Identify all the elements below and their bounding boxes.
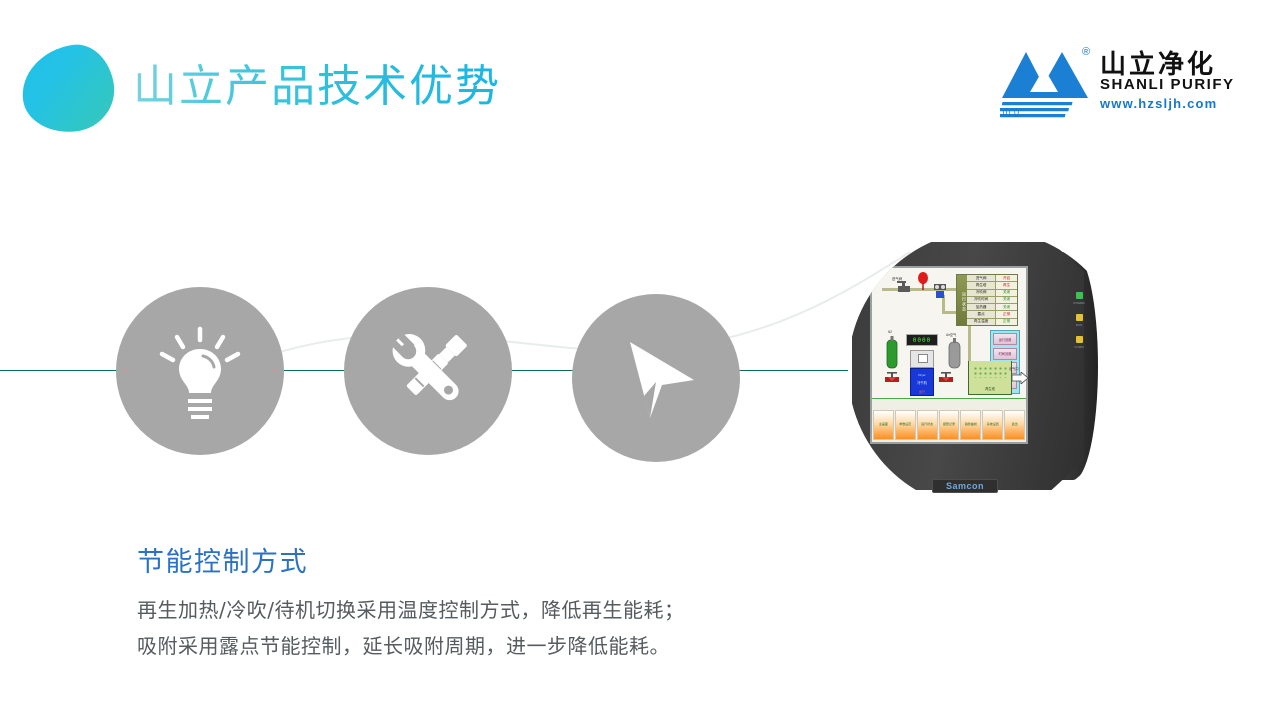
status-table-rows: 进气阀开启再生塔再生冷吹阀关闭冷吹时间关闭加热器关闭露点正常再生温度正常 <box>967 275 1017 325</box>
timeline-node-tools[interactable] <box>344 287 512 455</box>
air-receiver-icon <box>948 338 961 370</box>
slide-root: 山立产品技术优势 ® 山立 山立净化 SHANLI PURIFY www.hzs… <box>0 0 1280 720</box>
status-row-key: 进气阀 <box>967 275 996 281</box>
outlet-arrow-icon <box>1012 372 1028 384</box>
body-line-1: 再生加热/冷吹/待机切换采用温度控制方式，降低再生能耗； <box>137 592 897 628</box>
valve-left-icon <box>884 372 900 386</box>
section-body: 再生加热/冷吹/待机切换采用温度控制方式，降低再生能耗； 吸附采用露点节能控制，… <box>137 592 897 664</box>
blob-decoration-icon <box>16 40 119 138</box>
hmi-led-icon <box>1076 314 1083 321</box>
hmi-bottom-button[interactable]: 退出 <box>1004 410 1025 440</box>
body-line-2: 吸附采用露点节能控制，延长吸附周期，进一步降低能耗。 <box>137 628 897 664</box>
hmi-bottom-button-bar: 主画面参数设定运行状态报警记录趋势曲线系统设置退出 <box>872 398 1026 442</box>
status-table-row: 冷吹阀关闭 <box>967 290 1017 297</box>
hmi-led-icon <box>1076 336 1083 343</box>
status-table-row: 再生塔再生 <box>967 282 1017 289</box>
wrench-screwdriver-icon <box>376 319 480 423</box>
hmi-bottom-button[interactable]: 运行状态 <box>917 410 938 440</box>
status-row-value: 关闭 <box>996 290 1017 296</box>
status-table-row: 再生温度正常 <box>967 319 1017 325</box>
hmi-side-button[interactable]: 运行设置 <box>993 333 1017 345</box>
label-tower: 再生塔 <box>969 386 1011 391</box>
label-dryer: 冷干机 <box>911 380 933 385</box>
status-row-value: 正常 <box>996 311 1017 317</box>
status-row-value: 关闭 <box>996 297 1017 303</box>
status-row-value: 开启 <box>996 275 1017 281</box>
status-table-row: 露点正常 <box>967 311 1017 318</box>
timeline-node-idea[interactable] <box>116 287 284 455</box>
inlet-valve-icon <box>896 281 912 295</box>
status-row-value: 关闭 <box>996 304 1017 310</box>
status-row-value: 正常 <box>996 319 1017 325</box>
valve-right-icon <box>938 372 954 386</box>
hmi-led-label: RUN <box>1070 324 1088 327</box>
logo-mark-label: 山立 <box>1002 106 1022 119</box>
hmi-brand-plate: Samcon <box>932 479 998 493</box>
status-row-key: 再生塔 <box>967 282 996 288</box>
hmi-brand-label: Samcon <box>946 481 984 491</box>
page-title: 山立产品技术优势 <box>133 59 501 114</box>
hmi-digital-readout: 0000 <box>906 334 938 346</box>
logo-website-url: www.hzsljh.com <box>1100 96 1217 111</box>
logo-name-en: SHANLI PURIFY <box>1100 76 1235 93</box>
brand-logo: ® 山立 山立净化 SHANLI PURIFY www.hzsljh.com <box>1000 38 1216 124</box>
lightbulb-icon <box>150 321 250 421</box>
label-outlet: 出气口 <box>1009 366 1019 371</box>
status-table-vertical-label: 运行状态 <box>957 275 967 325</box>
hmi-led-label: POWER <box>1070 302 1088 305</box>
hmi-bottom-button[interactable]: 趋势曲线 <box>960 410 981 440</box>
status-row-key: 冷吹阀 <box>967 290 996 296</box>
hmi-bottom-button[interactable]: 报警记录 <box>939 410 960 440</box>
hmi-process-diagram: 进气阀 运行状态 进气阀开启再生塔再生冷 <box>872 268 1026 400</box>
hmi-led-indicators: POWERRUNCOMM <box>1070 292 1088 358</box>
hmi-screen[interactable]: 进气阀 运行状态 进气阀开启再生塔再生冷 <box>870 266 1028 444</box>
hmi-bottom-button[interactable]: 系统设置 <box>982 410 1003 440</box>
status-table-row: 进气阀开启 <box>967 275 1017 282</box>
status-table-row: 冷吹时间关闭 <box>967 297 1017 304</box>
hmi-bottom-button[interactable]: 参数设定 <box>895 410 916 440</box>
hmi-adsorption-tank: 再生塔 <box>968 361 1012 395</box>
pressure-indicator-icon <box>917 272 929 290</box>
timeline-node-pointer[interactable] <box>572 294 740 462</box>
hmi-panel-photo: 进气阀 运行状态 进气阀开启再生塔再生冷 <box>848 230 1128 510</box>
cursor-arrow-icon <box>606 328 706 428</box>
hmi-controller-box <box>910 350 934 368</box>
hmi-side-button[interactable]: 时间设置 <box>993 348 1017 360</box>
status-row-key: 再生温度 <box>967 319 996 325</box>
section-heading: 节能控制方式 <box>137 540 308 579</box>
hmi-dryer-vessel: Dryer 冷干机 运行 <box>910 368 934 396</box>
status-row-key: 加热器 <box>967 304 996 310</box>
blower-unit-icon <box>932 282 948 300</box>
label-inlet: 进气阀 <box>892 276 902 281</box>
status-row-value: 再生 <box>996 282 1017 288</box>
status-row-key: 冷吹时间 <box>967 297 996 303</box>
label-n2: N2 <box>888 330 892 334</box>
label-air: Air空气 <box>946 332 956 337</box>
hmi-led-icon <box>1076 292 1083 299</box>
hmi-status-table: 运行状态 进气阀开启再生塔再生冷吹阀关闭冷吹时间关闭加热器关闭露点正常再生温度正… <box>956 274 1018 326</box>
status-row-key: 露点 <box>967 311 996 317</box>
status-table-row: 加热器关闭 <box>967 304 1017 311</box>
hmi-led-label: COMM <box>1070 346 1088 349</box>
hmi-bottom-button[interactable]: 主画面 <box>873 410 894 440</box>
timeline-arc <box>200 230 920 400</box>
nitrogen-cylinder-icon <box>886 336 898 370</box>
registered-trademark-icon: ® <box>1082 46 1090 58</box>
